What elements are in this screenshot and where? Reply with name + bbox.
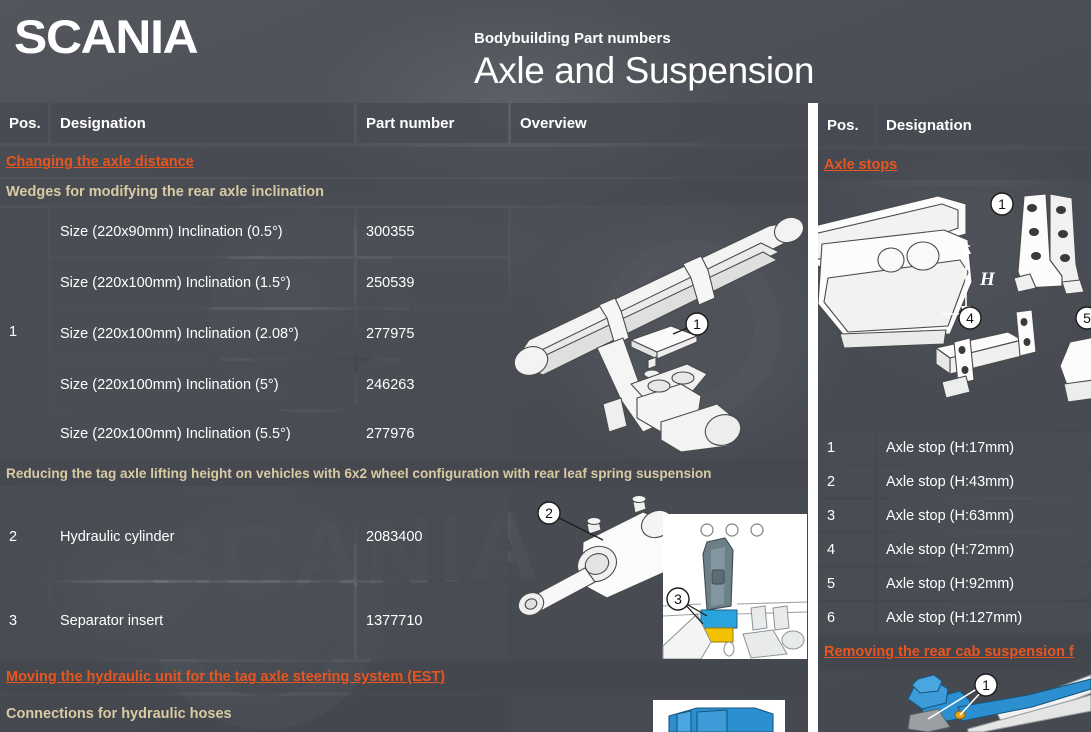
left-row-group1-pos: 1 — [0, 208, 48, 455]
table-row-designation: Axle stop (H:63mm) — [877, 500, 1091, 531]
dimension-label-h: H — [979, 269, 996, 290]
table-row-designation: Size (220x100mm) Inclination (1.5°) — [51, 259, 354, 307]
table-row-partnumber: 277976 — [357, 412, 508, 455]
table-divider — [808, 103, 818, 732]
table-row-designation: Hydraulic cylinder — [51, 494, 354, 580]
left-subsection-reducing-tag-axle-label: Reducing the tag axle lifting height on … — [6, 466, 711, 481]
table-row-partnumber: 250539 — [357, 259, 508, 307]
page-title: Axle and Suspension — [474, 50, 814, 92]
table-row-partnumber: 300355 — [357, 208, 508, 256]
right-section-link-removing-cab-suspension-label: Removing the rear cab suspension f — [824, 644, 1074, 660]
left-section-link-moving-hydraulic-unit-label: Moving the hydraulic unit for the tag ax… — [6, 669, 445, 685]
table-row-designation: Axle stop (H:72mm) — [877, 534, 1091, 565]
callout-separator-label: 3 — [674, 591, 682, 607]
table-row-designation: Axle stop (H:127mm) — [877, 602, 1091, 633]
left-subsection-hose-connections-label: Connections for hydraulic hoses — [6, 706, 232, 722]
table-row-designation: Size (220x100mm) Inclination (5°) — [51, 361, 354, 409]
table-row-designation: Axle stop (H:17mm) — [877, 432, 1091, 463]
callout-stop1-label: 1 — [998, 196, 1006, 212]
right-section-link-axle-stops[interactable]: Axle stops — [818, 150, 1091, 180]
page-root: SCANIA SCANIA Bodybuilding Part numbers … — [0, 0, 1091, 732]
left-col-header-designation: Designation — [51, 103, 354, 143]
table-row-pos: 6 — [818, 602, 874, 633]
table-row-pos: 2 — [818, 466, 874, 497]
callout-stop4-label: 4 — [966, 310, 974, 326]
table-row-pos: 4 — [818, 534, 874, 565]
overview-hydraulic-unit-illustration — [511, 696, 808, 732]
table-row-designation: Size (220x100mm) Inclination (5.5°) — [51, 412, 354, 455]
left-col-header-overview: Overview — [511, 103, 808, 143]
callout-stop5-label: 5 — [1083, 310, 1091, 326]
left-section-link-changing-axle-distance[interactable]: Changing the axle distance — [0, 147, 808, 177]
table-row-partnumber: 277975 — [357, 310, 508, 358]
table-row-designation: Size (220x90mm) Inclination (0.5°) — [51, 208, 354, 256]
left-subsection-hose-connections: Connections for hydraulic hoses — [0, 696, 504, 732]
left-section-link-changing-axle-distance-label: Changing the axle distance — [6, 154, 194, 170]
table-row-pos: 3 — [818, 500, 874, 531]
right-col-header-designation: Designation — [877, 105, 1091, 145]
overview-axle-stops-illustration: H 1 — [818, 186, 1091, 429]
left-subsection-reducing-tag-axle: Reducing the tag axle lifting height on … — [0, 460, 808, 486]
left-section-link-moving-hydraulic-unit[interactable]: Moving the hydraulic unit for the tag ax… — [0, 662, 808, 692]
overview-hydraulic-cylinder-illustration: 2 — [511, 494, 808, 659]
table-row-pos: 1 — [818, 432, 874, 463]
callout-cylinder-label: 2 — [545, 505, 553, 521]
table-row-designation: Axle stop (H:43mm) — [877, 466, 1091, 497]
table-row-partnumber: 1377710 — [357, 583, 508, 659]
table-row-designation: Size (220x100mm) Inclination (2.08°) — [51, 310, 354, 358]
left-subsection-wedges-label: Wedges for modifying the rear axle incli… — [6, 184, 324, 200]
callout-leaf-spring-label: 1 — [693, 316, 701, 332]
right-col-header-pos: Pos. — [818, 105, 874, 145]
left-col-header-pos: Pos. — [0, 103, 48, 143]
overview-cab-suspension-illustration: 1 — [818, 671, 1091, 732]
table-row-partnumber: 246263 — [357, 361, 508, 409]
table-row-designation: Separator insert — [51, 583, 354, 659]
left-subsection-wedges: Wedges for modifying the rear axle incli… — [0, 179, 808, 205]
table-row-designation: Axle stop (H:92mm) — [877, 568, 1091, 599]
page-header: SCANIA Bodybuilding Part numbers Axle an… — [0, 0, 1091, 103]
right-section-link-removing-cab-suspension[interactable]: Removing the rear cab suspension f — [818, 637, 1091, 667]
header-subtitle: Bodybuilding Part numbers — [474, 30, 671, 47]
overview-leaf-spring-illustration: 1 — [511, 208, 808, 455]
table-row-pos: 2 — [0, 494, 48, 580]
table-row-pos: 3 — [0, 583, 48, 659]
table-row-partnumber: 2083400 — [357, 494, 508, 580]
callout-cab-label: 1 — [982, 677, 990, 693]
scania-logo: SCANIA — [14, 9, 197, 64]
left-col-header-partnumber: Part number — [357, 103, 508, 143]
table-row-pos: 5 — [818, 568, 874, 599]
right-section-link-axle-stops-label: Axle stops — [824, 157, 897, 173]
